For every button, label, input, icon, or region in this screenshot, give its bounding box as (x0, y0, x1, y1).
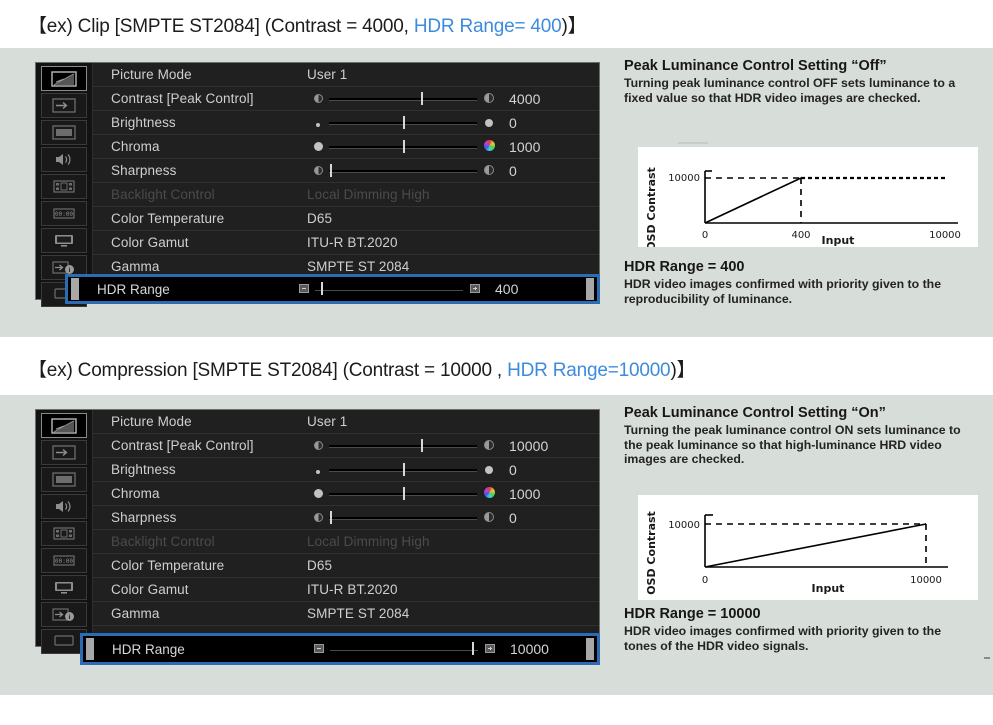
osd-row-contrast[interactable]: Contrast [Peak Control] 10000 (93, 434, 599, 458)
contrast-half-icon (477, 91, 501, 106)
osd-rail-clip[interactable]: 00:00 i (36, 63, 92, 299)
svg-text:Input: Input (812, 582, 845, 595)
minus-box-icon[interactable] (308, 640, 330, 658)
section-clip-title-plain-1: 【ex) Clip [SMPTE ST2084] (Contrast = 400… (28, 16, 414, 37)
section-clip-title-accent: HDR Range= 400 (414, 16, 562, 37)
contrast-half-icon (307, 163, 329, 178)
osd-row-label: Sharpness (111, 510, 307, 525)
svg-text:OSD Contrast: OSD Contrast (645, 167, 658, 247)
svg-text:10000: 10000 (929, 230, 961, 241)
osd-menu-compression[interactable]: 00:00 i Picture Mode User 1 Contrast [Pe… (35, 409, 600, 647)
osd-row-color-gamut[interactable]: Color Gamut ITU-R BT.2020 (93, 231, 599, 255)
osd-slider-value: 0 (501, 115, 571, 131)
svg-text:Input: Input (822, 234, 855, 247)
osd-row-value: D65 (307, 211, 599, 226)
scroll-cap-left (71, 278, 79, 300)
scroll-cap-right (586, 278, 594, 300)
small-dot-icon (307, 462, 329, 477)
rail-btn-screen-icon[interactable] (41, 120, 87, 145)
osd-row-value: ITU-R BT.2020 (307, 582, 599, 597)
osd-row-label: Color Temperature (111, 558, 307, 573)
osd-row-value: Local Dimming High (307, 534, 599, 549)
compression-caption-body: HDR video images confirmed with priority… (624, 624, 976, 653)
brightness-dot-icon (477, 115, 501, 130)
contrast-half-icon (307, 510, 329, 525)
section-compression-title: 【ex) Compression [SMPTE ST2084] (Contras… (28, 355, 695, 382)
osd-row-chroma[interactable]: Chroma 1000 (93, 482, 599, 506)
brightness-dot-icon (477, 462, 501, 477)
osd-row-label: Chroma (111, 486, 307, 501)
osd-row-brightness[interactable]: Brightness 0 (93, 458, 599, 482)
svg-text:00:00: 00:00 (55, 211, 73, 218)
rail-btn-audio-icon[interactable] (41, 494, 87, 519)
svg-text:00:00: 00:00 (55, 558, 73, 565)
osd-slider-value: 10000 (502, 641, 572, 657)
osd-row-picture-mode[interactable]: Picture Mode User 1 (93, 410, 599, 434)
osd-row-label: Picture Mode (111, 67, 307, 82)
scroll-cap-right (586, 638, 594, 660)
rail-btn-film-icon[interactable] (41, 174, 87, 199)
rail-btn-timecode-icon[interactable]: 00:00 (41, 201, 87, 226)
osd-slider-sharpness[interactable]: 0 (307, 163, 599, 179)
osd-slider-value: 0 (501, 462, 571, 478)
osd-row-gamma[interactable]: Gamma SMPTE ST 2084 (93, 602, 599, 626)
color-wheel-icon (477, 139, 501, 154)
contrast-half-icon (307, 438, 329, 453)
clip-right-body: Turning peak luminance control OFF sets … (624, 76, 976, 105)
osd-slider-value: 0 (501, 163, 571, 179)
osd-row-label: Backlight Control (111, 187, 307, 202)
rail-btn-display-icon[interactable] (41, 228, 87, 253)
svg-text:OSD Contrast: OSD Contrast (645, 511, 658, 595)
osd-slider-value: 4000 (501, 91, 571, 107)
clip-caption-title: HDR Range = 400 (624, 259, 744, 275)
compression-chart-svg: OSD Contrast 10000 0 10000 Input (638, 495, 978, 600)
rail-btn-audio-icon[interactable] (41, 147, 87, 172)
osd-row-value: User 1 (307, 67, 599, 82)
osd-row-value: SMPTE ST 2084 (307, 606, 599, 621)
osd-row-color-gamut[interactable]: Color Gamut ITU-R BT.2020 (93, 578, 599, 602)
osd-row-contrast[interactable]: Contrast [Peak Control] 4000 (93, 87, 599, 111)
osd-slider-brightness[interactable]: 0 (307, 115, 599, 131)
osd-row-label: HDR Range (97, 282, 293, 297)
clip-caption-body: HDR video images confirmed with priority… (624, 277, 976, 306)
osd-slider-value: 400 (487, 281, 557, 297)
section-clip: 【ex) Clip [SMPTE ST2084] (Contrast = 400… (0, 0, 993, 340)
clip-right-title: Peak Luminance Control Setting “Off” (624, 58, 887, 74)
minus-box-icon[interactable] (293, 280, 315, 298)
compression-caption-title: HDR Range = 10000 (624, 606, 761, 622)
osd-row-label: Color Gamut (111, 235, 307, 250)
page-corner-mark (984, 657, 990, 659)
osd-row-label: Gamma (111, 606, 307, 621)
svg-text:i: i (69, 614, 71, 621)
osd-row-chroma[interactable]: Chroma 1000 (93, 135, 599, 159)
osd-row-hdr-range-clip[interactable]: HDR Range 400 (65, 274, 600, 304)
section-clip-title: 【ex) Clip [SMPTE ST2084] (Contrast = 400… (28, 11, 586, 38)
svg-text:0: 0 (702, 575, 708, 586)
contrast-half-icon (477, 510, 501, 525)
osd-row-color-temperature[interactable]: Color Temperature D65 (93, 207, 599, 231)
osd-row-label: HDR Range (112, 642, 308, 657)
osd-rows-compression: Picture Mode User 1 Contrast [Peak Contr… (92, 410, 599, 646)
clip-chart: OSD Contrast 10000 0 400 10000 Input (638, 147, 978, 247)
osd-slider-hdr-range[interactable]: 400 (293, 280, 586, 298)
osd-menu-clip[interactable]: 00:00 i Picture Mode User 1 Contrast [Pe… (35, 62, 600, 300)
plus-box-icon[interactable] (463, 280, 487, 298)
osd-row-label: Contrast [Peak Control] (111, 91, 307, 106)
osd-slider-brightness[interactable]: 0 (307, 462, 599, 478)
svg-text:10000: 10000 (668, 520, 700, 531)
gray-dot-icon (307, 139, 329, 154)
color-wheel-icon (477, 486, 501, 501)
rail-btn-picture-mode-icon[interactable] (41, 66, 87, 91)
rail-btn-input-select-icon[interactable] (41, 440, 87, 465)
osd-rows-clip: Picture Mode User 1 Contrast [Peak Contr… (92, 63, 599, 299)
osd-slider-chroma[interactable]: 1000 (307, 139, 599, 155)
svg-text:i: i (69, 267, 71, 274)
osd-slider-sharpness[interactable]: 0 (307, 510, 599, 526)
osd-row-label: Color Gamut (111, 582, 307, 597)
osd-row-label: Chroma (111, 139, 307, 154)
svg-text:10000: 10000 (668, 173, 700, 184)
osd-rail-compression[interactable]: 00:00 i (36, 410, 92, 646)
section-compression-title-plain-2: )】 (670, 360, 695, 381)
svg-text:10000: 10000 (910, 575, 942, 586)
contrast-half-icon (307, 91, 329, 106)
section-compression: 【ex) Compression [SMPTE ST2084] (Contras… (0, 347, 993, 707)
small-dot-icon (307, 115, 329, 130)
contrast-half-icon (477, 163, 501, 178)
osd-row-label: Brightness (111, 115, 307, 130)
svg-text:0: 0 (702, 230, 708, 241)
section-clip-title-plain-2: )】 (562, 16, 587, 37)
osd-row-brightness[interactable]: Brightness 0 (93, 111, 599, 135)
decorative-dash (678, 142, 708, 144)
osd-slider-contrast[interactable]: 10000 (307, 438, 599, 454)
osd-row-backlight-control: Backlight Control Local Dimming High (93, 183, 599, 207)
osd-slider-value: 1000 (501, 139, 571, 155)
rail-btn-display-icon[interactable] (41, 575, 87, 600)
rail-btn-film-icon[interactable] (41, 521, 87, 546)
osd-row-label: Sharpness (111, 163, 307, 178)
osd-row-value: User 1 (307, 414, 599, 429)
osd-row-label: Contrast [Peak Control] (111, 438, 307, 453)
osd-slider-chroma[interactable]: 1000 (307, 486, 599, 502)
osd-row-value: ITU-R BT.2020 (307, 235, 599, 250)
plus-box-icon[interactable] (478, 640, 502, 658)
compression-chart: OSD Contrast 10000 0 10000 Input (638, 495, 978, 600)
rail-btn-picture-mode-icon[interactable] (41, 413, 87, 438)
osd-row-hdr-range-compression[interactable]: HDR Range 10000 (80, 633, 600, 665)
osd-row-label: Brightness (111, 462, 307, 477)
section-compression-title-plain-1: 【ex) Compression [SMPTE ST2084] (Contras… (28, 360, 507, 381)
rail-btn-input-select-icon[interactable] (41, 93, 87, 118)
osd-row-sharpness[interactable]: Sharpness 0 (93, 506, 599, 530)
rail-btn-input-info-icon[interactable]: i (41, 602, 87, 627)
compression-right-title: Peak Luminance Control Setting “On” (624, 405, 886, 421)
gray-dot-icon (307, 486, 329, 501)
osd-row-label: Gamma (111, 259, 307, 274)
clip-chart-svg: OSD Contrast 10000 0 400 10000 Input (638, 147, 978, 247)
osd-row-label: Backlight Control (111, 534, 307, 549)
osd-row-label: Color Temperature (111, 211, 307, 226)
osd-row-value: D65 (307, 558, 599, 573)
contrast-half-icon (477, 438, 501, 453)
osd-slider-contrast[interactable]: 4000 (307, 91, 599, 107)
osd-row-value: Local Dimming High (307, 187, 599, 202)
rail-btn-screen-icon[interactable] (41, 467, 87, 492)
osd-row-value: SMPTE ST 2084 (307, 259, 599, 274)
osd-row-sharpness[interactable]: Sharpness 0 (93, 159, 599, 183)
svg-text:400: 400 (791, 230, 810, 241)
compression-right-body: Turning the peak luminance control ON se… (624, 423, 976, 467)
rail-btn-timecode-icon[interactable]: 00:00 (41, 548, 87, 573)
osd-row-color-temperature[interactable]: Color Temperature D65 (93, 554, 599, 578)
osd-slider-value: 0 (501, 510, 571, 526)
scroll-cap-left (86, 638, 94, 660)
section-compression-title-accent: HDR Range=10000 (507, 360, 670, 381)
osd-row-label: Picture Mode (111, 414, 307, 429)
osd-row-picture-mode[interactable]: Picture Mode User 1 (93, 63, 599, 87)
osd-slider-hdr-range[interactable]: 10000 (308, 640, 586, 658)
osd-slider-value: 10000 (501, 438, 571, 454)
osd-slider-value: 1000 (501, 486, 571, 502)
osd-row-backlight-control: Backlight Control Local Dimming High (93, 530, 599, 554)
